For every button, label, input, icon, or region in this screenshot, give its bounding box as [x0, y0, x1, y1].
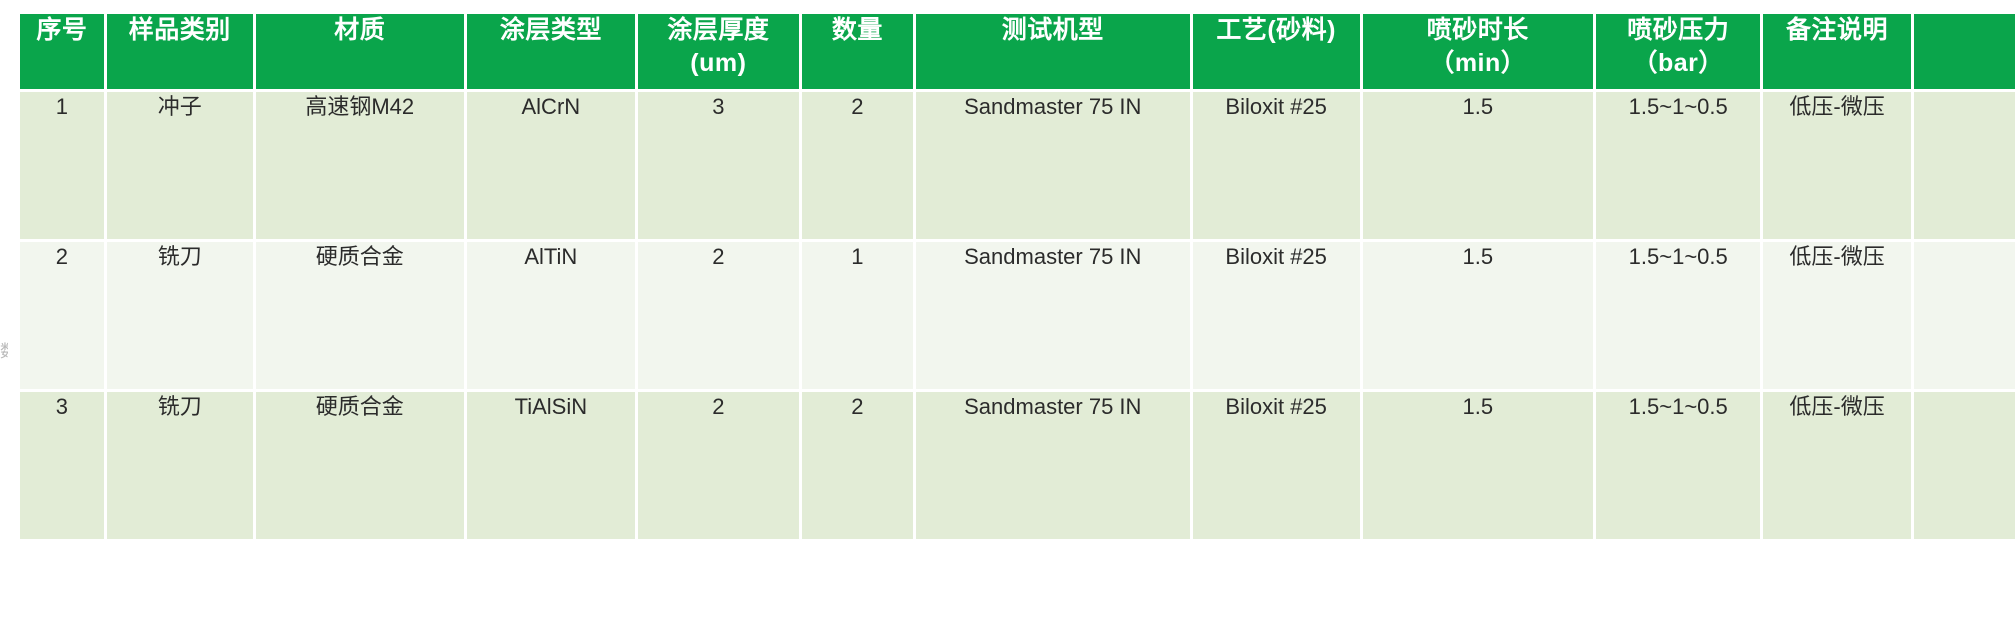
column-header-blast-pressure[interactable]: 喷砂压力 （bar） [1596, 14, 1764, 92]
cell-quantity[interactable]: 2 [802, 392, 916, 542]
table-header: 序号 样品类别 材质 涂层类型 涂层厚度 (um) 数量 测试机型 工艺(砂料)… [20, 14, 2015, 92]
column-header-quantity[interactable]: 数量 [802, 14, 916, 92]
cell-blast-time[interactable]: 1.5 [1363, 92, 1596, 242]
table-row[interactable]: 2 铣刀 硬质合金 AlTiN 2 1 Sandmaster 75 IN Bil… [20, 242, 2015, 392]
cell-coating-type[interactable]: AlCrN [467, 92, 638, 242]
cell-index[interactable]: 3 [20, 392, 107, 542]
cell-quantity[interactable]: 1 [802, 242, 916, 392]
cell-overflow [1914, 92, 2015, 242]
sample-test-parameters-table: 序号 样品类别 材质 涂层类型 涂层厚度 (um) 数量 测试机型 工艺(砂料)… [20, 14, 2015, 542]
column-header-sample-type[interactable]: 样品类别 [107, 14, 256, 92]
column-header-process-abrasive[interactable]: 工艺(砂料) [1193, 14, 1363, 92]
cell-coating-thickness[interactable]: 2 [638, 242, 802, 392]
cell-remark[interactable]: 低压-微压 [1763, 392, 1913, 542]
spreadsheet-canvas: 数 序号 样品类别 材质 涂层类型 涂层厚度 (um) 数量 测试机型 工艺(砂… [0, 0, 2015, 637]
cell-overflow [1914, 392, 2015, 542]
column-header-remark[interactable]: 备注说明 [1763, 14, 1913, 92]
cell-index[interactable]: 2 [20, 242, 107, 392]
cell-coating-type[interactable]: AlTiN [467, 242, 638, 392]
table-body: 1 冲子 高速钢M42 AlCrN 3 2 Sandmaster 75 IN B… [20, 92, 2015, 542]
cell-coating-thickness[interactable]: 3 [638, 92, 802, 242]
column-header-coating-thickness[interactable]: 涂层厚度 (um) [638, 14, 802, 92]
cell-coating-type[interactable]: TiAlSiN [467, 392, 638, 542]
column-header-index[interactable]: 序号 [20, 14, 107, 92]
cell-blast-pressure[interactable]: 1.5~1~0.5 [1596, 242, 1764, 392]
cell-test-machine[interactable]: Sandmaster 75 IN [916, 392, 1193, 542]
cell-material[interactable]: 硬质合金 [256, 392, 467, 542]
cell-sample-type[interactable]: 铣刀 [107, 242, 256, 392]
cell-blast-pressure[interactable]: 1.5~1~0.5 [1596, 92, 1764, 242]
column-header-test-machine[interactable]: 测试机型 [916, 14, 1193, 92]
cell-blast-time[interactable]: 1.5 [1363, 242, 1596, 392]
table-header-row: 序号 样品类别 材质 涂层类型 涂层厚度 (um) 数量 测试机型 工艺(砂料)… [20, 14, 2015, 92]
cell-sample-type[interactable]: 冲子 [107, 92, 256, 242]
cell-process-abrasive[interactable]: Biloxit #25 [1193, 392, 1363, 542]
column-header-blast-time[interactable]: 喷砂时长 （min） [1363, 14, 1596, 92]
clipped-left-edge-text: 数 [0, 340, 8, 390]
cell-blast-pressure[interactable]: 1.5~1~0.5 [1596, 392, 1764, 542]
cell-sample-type[interactable]: 铣刀 [107, 392, 256, 542]
cell-blast-time[interactable]: 1.5 [1363, 392, 1596, 542]
cell-process-abrasive[interactable]: Biloxit #25 [1193, 242, 1363, 392]
cell-process-abrasive[interactable]: Biloxit #25 [1193, 92, 1363, 242]
table-row[interactable]: 3 铣刀 硬质合金 TiAlSiN 2 2 Sandmaster 75 IN B… [20, 392, 2015, 542]
cell-material[interactable]: 高速钢M42 [256, 92, 467, 242]
cell-coating-thickness[interactable]: 2 [638, 392, 802, 542]
column-header-overflow [1914, 14, 2015, 92]
cell-overflow [1914, 242, 2015, 392]
cell-remark[interactable]: 低压-微压 [1763, 242, 1913, 392]
cell-material[interactable]: 硬质合金 [256, 242, 467, 392]
column-header-coating-type[interactable]: 涂层类型 [467, 14, 638, 92]
cell-remark[interactable]: 低压-微压 [1763, 92, 1913, 242]
column-header-material[interactable]: 材质 [256, 14, 467, 92]
cell-index[interactable]: 1 [20, 92, 107, 242]
cell-test-machine[interactable]: Sandmaster 75 IN [916, 92, 1193, 242]
cell-quantity[interactable]: 2 [802, 92, 916, 242]
table-row[interactable]: 1 冲子 高速钢M42 AlCrN 3 2 Sandmaster 75 IN B… [20, 92, 2015, 242]
cell-test-machine[interactable]: Sandmaster 75 IN [916, 242, 1193, 392]
